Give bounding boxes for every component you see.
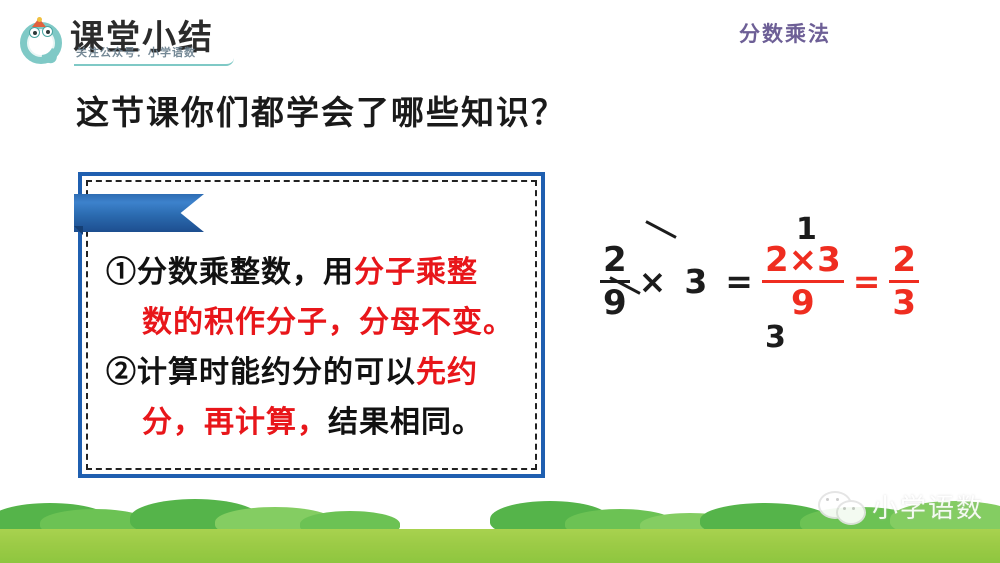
wechat-bubble-small [836, 500, 866, 525]
slide-canvas: 课堂小结 关注公众号：小学语数 分数乘法 这节课你们都学会了哪些知识？ ①分数乘… [0, 0, 1000, 563]
multiply-sign: × [639, 262, 667, 301]
summary-line-segment: ②计算时能约分的可以 [106, 355, 416, 390]
equals-sign-1: = [725, 262, 753, 301]
chapter-title: 分数乘法 [0, 18, 1000, 48]
result-fraction-denominator: 3 [889, 285, 919, 321]
cancel-strike-numerator [645, 220, 676, 239]
summary-box: ①分数乘整数，用分子乘整数的积作分子，分母不变。②计算时能约分的可以先约分，再计… [78, 172, 545, 478]
left-fraction-denominator: 9 [600, 285, 630, 321]
summary-line-segment: 结果相同。 [328, 405, 483, 440]
summary-lines: ①分数乘整数，用分子乘整数的积作分子，分母不变。②计算时能约分的可以先约分，再计… [106, 248, 527, 448]
multiplier-value: 3 [684, 262, 707, 301]
cancel-label-top: 1 [796, 212, 817, 247]
middle-fraction: 2×3 9 [762, 242, 844, 321]
cancel-label-bottom: 3 [765, 320, 786, 355]
summary-line-segment: ①分数乘整数，用 [106, 255, 354, 290]
summary-line-segment: 先约 [416, 355, 478, 390]
middle-fraction-numerator: 2×3 [762, 242, 844, 278]
summary-line: ①分数乘整数，用分子乘整 [106, 248, 527, 298]
grass-base [0, 529, 1000, 563]
summary-line: 数的积作分子，分母不变。 [106, 298, 527, 348]
result-fraction-numerator: 2 [889, 242, 919, 278]
summary-line-segment: 数的积作分子，分母不变。 [142, 305, 514, 340]
question-text: 这节课你们都学会了哪些知识？ [76, 86, 566, 134]
math-expression: 2 9 × 3 = 2×3 9 = 2 3 1 3 [600, 212, 940, 362]
summary-line-segment: 分，再计算， [142, 405, 328, 440]
math-row: 2 9 × 3 = 2×3 9 = 2 3 [600, 242, 919, 321]
wechat-label: 小学语数 [872, 488, 984, 525]
result-fraction: 2 3 [889, 242, 919, 321]
wechat-icon [818, 491, 864, 523]
summary-line-segment: 分子乘整 [354, 255, 478, 290]
summary-line: 分，再计算，结果相同。 [106, 398, 527, 448]
middle-fraction-denominator: 9 [788, 285, 818, 321]
wechat-watermark: 小学语数 [818, 488, 984, 525]
left-fraction-numerator: 2 [600, 242, 630, 278]
equals-sign-2: = [853, 262, 881, 301]
summary-line: ②计算时能约分的可以先约 [106, 348, 527, 398]
